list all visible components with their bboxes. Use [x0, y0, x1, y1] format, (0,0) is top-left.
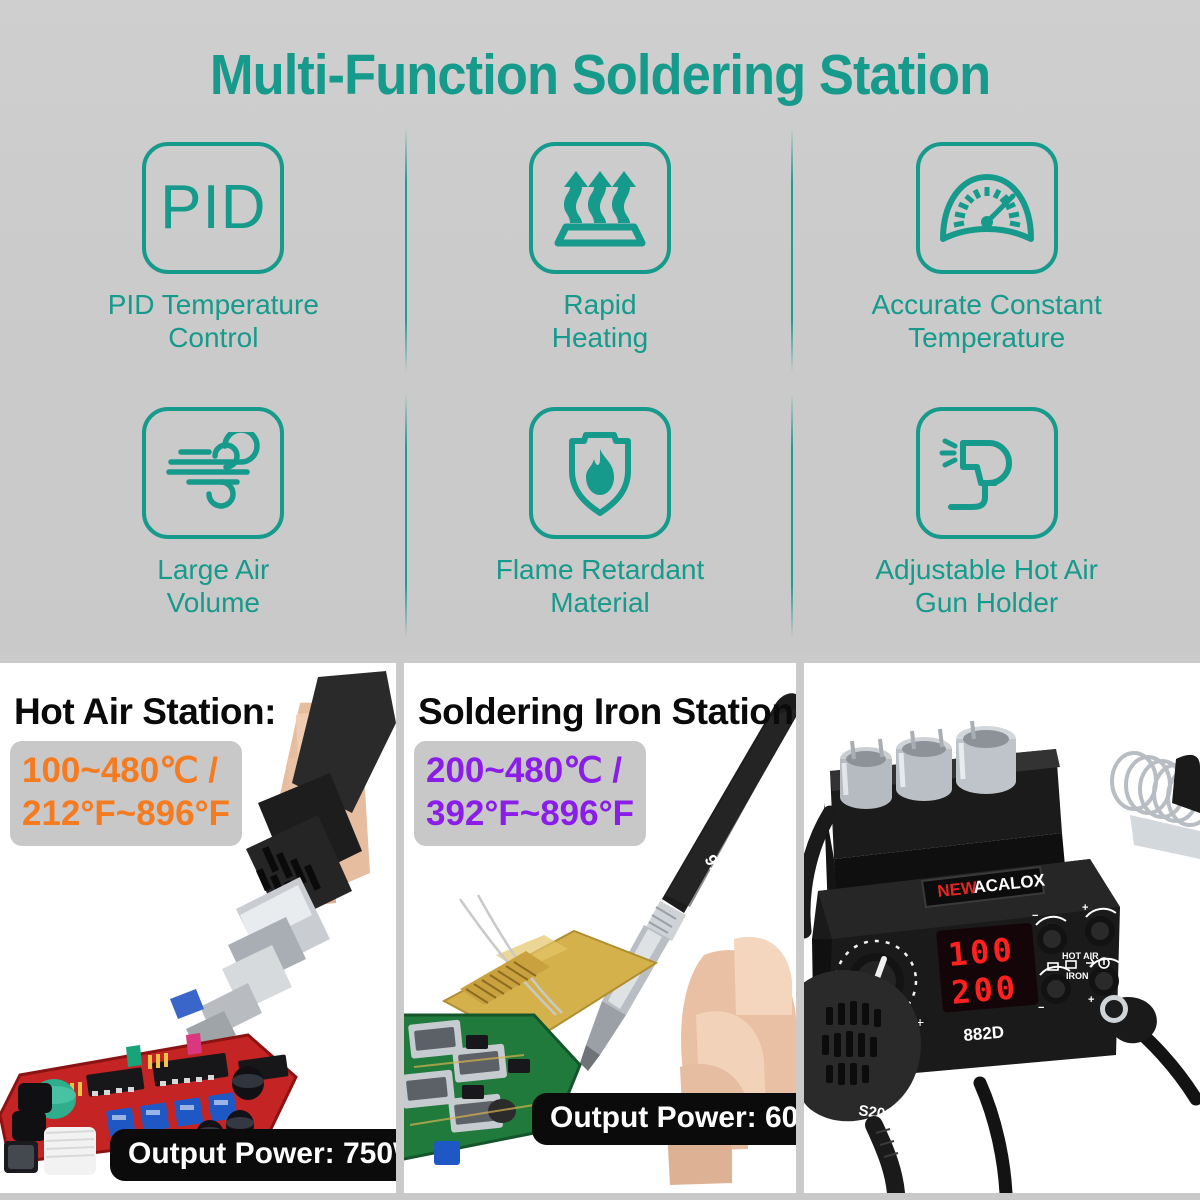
display-bottom-value: 200 [950, 968, 1020, 1012]
feature-label: Adjustable Hot Air Gun Holder [875, 553, 1098, 619]
shield-flame-icon [529, 407, 671, 539]
panel-title: Soldering Iron Station [418, 691, 793, 733]
panel-station-device: NEW ACALOX AIR + − 100 [804, 663, 1200, 1193]
output-power-badge: Output Power: 750W [110, 1129, 396, 1181]
product-infographic: Multi-Function Soldering Station PID PID… [0, 0, 1200, 1200]
model-number: 882D [963, 1023, 1005, 1045]
bottom-strip [0, 1193, 1200, 1200]
feature-pid-temperature-control: PID PID Temperature Control [20, 118, 407, 383]
panel-hot-air-station: Hot Air Station: 100~480℃ / 212°F~896°F … [0, 663, 396, 1193]
channel-hot-air-label: HOT AIR [1062, 951, 1099, 961]
features-section: Multi-Function Soldering Station PID PID… [0, 0, 1200, 655]
svg-text:−: − [1032, 910, 1038, 922]
output-power-badge: Output Power: 60W [532, 1093, 796, 1145]
heat-rise-icon [529, 142, 671, 274]
display-top-value: 100 [946, 930, 1016, 974]
panel-title: Hot Air Station: [14, 691, 276, 733]
feature-accurate-constant-temperature: Accurate Constant Temperature [793, 118, 1180, 383]
pid-icon-label: PID [160, 177, 266, 239]
feature-rapid-heating: Rapid Heating [407, 118, 794, 383]
pid-icon: PID [142, 142, 284, 274]
feature-label: PID Temperature Control [108, 288, 319, 354]
heat-gun-icon [916, 407, 1058, 539]
feature-grid: PID PID Temperature Control R [20, 118, 1180, 648]
panel-soldering-iron-station: 9176A [404, 663, 796, 1193]
feature-flame-retardant-material: Flame Retardant Material [407, 383, 794, 648]
feature-label: Large Air Volume [157, 553, 269, 619]
page-title: Multi-Function Soldering Station [48, 38, 1152, 106]
feature-large-air-volume: Large Air Volume [20, 383, 407, 648]
svg-text:+: + [1082, 902, 1088, 914]
feature-label: Accurate Constant Temperature [871, 288, 1101, 354]
station-device-photo: NEW ACALOX AIR + − 100 [804, 663, 1200, 1193]
svg-text:−: − [1038, 1002, 1044, 1014]
wind-icon [142, 407, 284, 539]
gauge-icon [916, 142, 1058, 274]
temperature-range: 200~480℃ / 392°F~896°F [414, 741, 646, 846]
photo-panels: Hot Air Station: 100~480℃ / 212°F~896°F … [0, 663, 1200, 1193]
channel-iron-label: IRON [1066, 971, 1089, 981]
svg-text:+: + [1088, 994, 1094, 1006]
temperature-range: 100~480℃ / 212°F~896°F [10, 741, 242, 846]
feature-label: Flame Retardant Material [496, 553, 705, 619]
feature-label: Rapid Heating [552, 288, 649, 354]
feature-adjustable-hot-air-gun-holder: Adjustable Hot Air Gun Holder [793, 383, 1180, 648]
